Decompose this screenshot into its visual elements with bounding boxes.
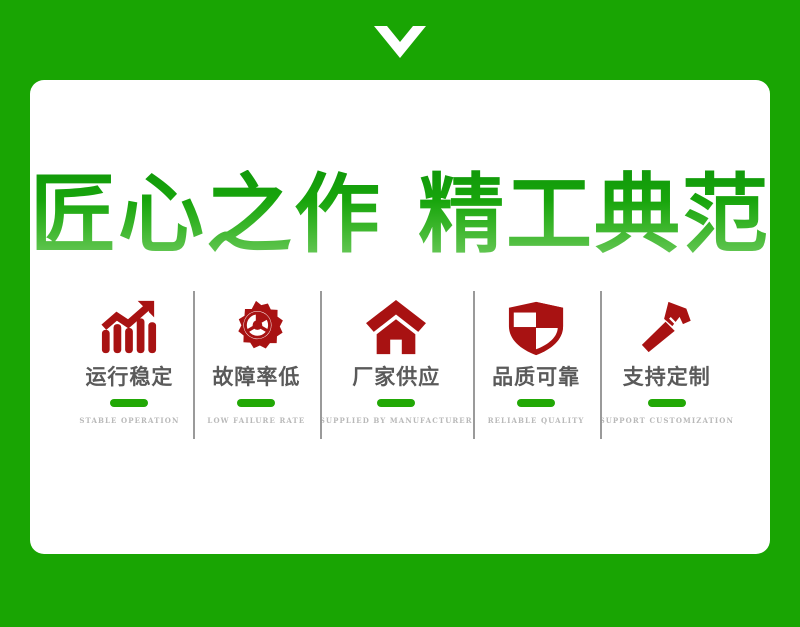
feature-accent-dash <box>237 399 275 407</box>
feature-accent-dash <box>517 399 555 407</box>
feature-item-support-customization: 支持定制 SUPPORT CUSTOMIZATION <box>600 295 734 425</box>
headline-left: 匠心之作 <box>30 165 382 265</box>
house-factory-icon <box>365 299 427 357</box>
feature-accent-dash <box>648 399 686 407</box>
headline-right: 精工典范 <box>418 165 770 265</box>
feature-subtitle: SUPPORT CUSTOMIZATION <box>600 416 734 425</box>
feature-item-supplied-by-manufacturer: 厂家供应 SUPPLIED BY MANUFACTURER <box>320 295 473 425</box>
feature-label: 运行稳定 <box>85 365 173 390</box>
feature-item-stable-operation: 运行稳定 STABLE OPERATION <box>66 295 193 425</box>
feature-accent-dash <box>110 399 148 407</box>
feature-label: 厂家供应 <box>352 365 440 390</box>
feature-item-reliable-quality: 品质可靠 RELIABLE QUALITY <box>473 295 600 425</box>
feature-label: 故障率低 <box>212 365 300 390</box>
feature-subtitle: STABLE OPERATION <box>79 416 179 425</box>
page-title: 匠心之作精工典范 <box>30 170 770 260</box>
promo-banner: 匠心之作精工典范 运行稳定 STAB <box>0 0 800 627</box>
gear-icon <box>225 299 287 357</box>
feature-label: 支持定制 <box>623 365 711 390</box>
bar-chart-growth-icon <box>98 299 160 357</box>
feature-item-low-failure-rate: 故障率低 LOW FAILURE RATE <box>193 295 320 425</box>
chevron-down-icon <box>374 26 426 58</box>
hammer-icon <box>636 299 698 357</box>
content-card: 匠心之作精工典范 运行稳定 STAB <box>30 80 770 554</box>
shield-cross-icon <box>505 299 567 357</box>
feature-subtitle: SUPPLIED BY MANUFACTURER <box>320 416 473 425</box>
feature-accent-dash <box>377 399 415 407</box>
feature-subtitle: LOW FAILURE RATE <box>207 416 305 425</box>
chevron-down-decoration <box>0 26 800 62</box>
feature-list: 运行稳定 STABLE OPERATION <box>66 295 734 450</box>
feature-label: 品质可靠 <box>492 365 580 390</box>
feature-subtitle: RELIABLE QUALITY <box>488 416 585 425</box>
